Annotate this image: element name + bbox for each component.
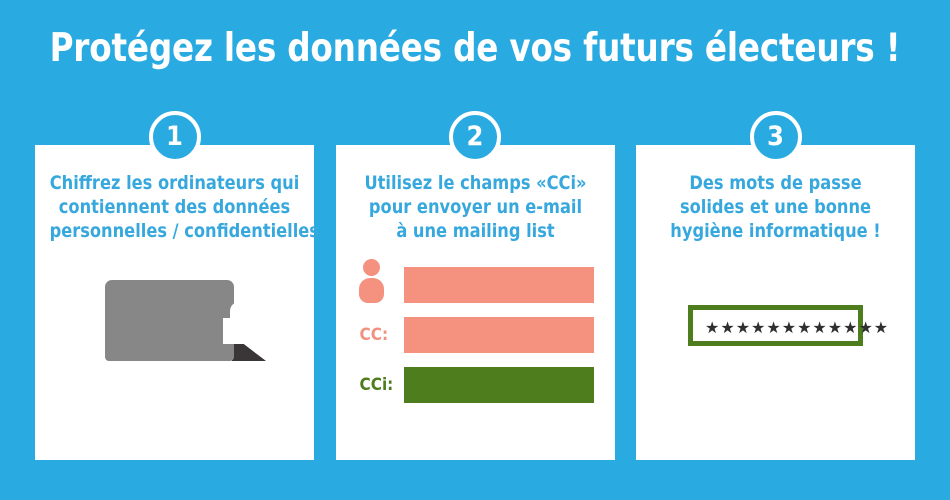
caption-line: solides et une bonne — [651, 195, 901, 219]
password-masked-value: ★★★★★★★★★★★★ — [705, 320, 889, 336]
step-card-1: 1 Chiffrez les ordinateurs qui contienne… — [35, 145, 314, 460]
laptop-screen-icon — [105, 280, 234, 361]
step-caption-3: Des mots de passe solides et une bonne h… — [644, 171, 907, 243]
caption-line: Utilisez le champs «CCi» — [350, 171, 600, 195]
caption-line: à une mailing list — [350, 219, 600, 243]
caption-line: Des mots de passe — [651, 171, 901, 195]
caption-line: contiennent des données — [50, 195, 300, 219]
infographic-poster: Protégez les données de vos futurs élect… — [0, 0, 950, 500]
password-illustration: ★★★★★★★★★★★★ — [636, 305, 915, 346]
email-row-to — [358, 267, 594, 303]
email-row-cc: CC: — [358, 317, 594, 353]
step-card-3: 3 Des mots de passe solides et une bonne… — [636, 145, 915, 460]
step-badge-1: 1 — [149, 111, 201, 163]
padlock-icon — [223, 302, 255, 344]
page-title: Protégez les données de vos futurs élect… — [33, 26, 917, 72]
step-badge-3: 3 — [750, 111, 802, 163]
steps-row: 1 Chiffrez les ordinateurs qui contienne… — [35, 145, 915, 460]
email-field-cci[interactable] — [404, 367, 594, 403]
email-field-to[interactable] — [404, 267, 594, 303]
person-head-icon — [363, 259, 380, 276]
step-caption-2: Utilisez le champs «CCi» pour envoyer un… — [344, 171, 607, 243]
laptop-illustration — [35, 280, 314, 390]
password-input[interactable]: ★★★★★★★★★★★★ — [688, 305, 863, 346]
step-badge-2: 2 — [449, 111, 501, 163]
email-fields-illustration: CC: CCi: — [358, 267, 594, 403]
caption-line: hygiène informatique ! — [651, 219, 901, 243]
email-label-cc: CC: — [358, 325, 404, 345]
caption-line: personnelles / confidentielles — [50, 219, 300, 243]
caption-line: pour envoyer un e-mail — [350, 195, 600, 219]
email-label-cci: CCi: — [358, 375, 404, 395]
email-field-cc[interactable] — [404, 317, 594, 353]
padlock-body-icon — [223, 318, 255, 344]
person-body-icon — [359, 278, 384, 303]
person-icon — [358, 267, 404, 303]
caption-line: Chiffrez les ordinateurs qui — [50, 171, 300, 195]
email-row-cci: CCi: — [358, 367, 594, 403]
step-card-2: 2 Utilisez le champs «CCi» pour envoyer … — [336, 145, 615, 460]
step-caption-1: Chiffrez les ordinateurs qui contiennent… — [43, 171, 306, 243]
